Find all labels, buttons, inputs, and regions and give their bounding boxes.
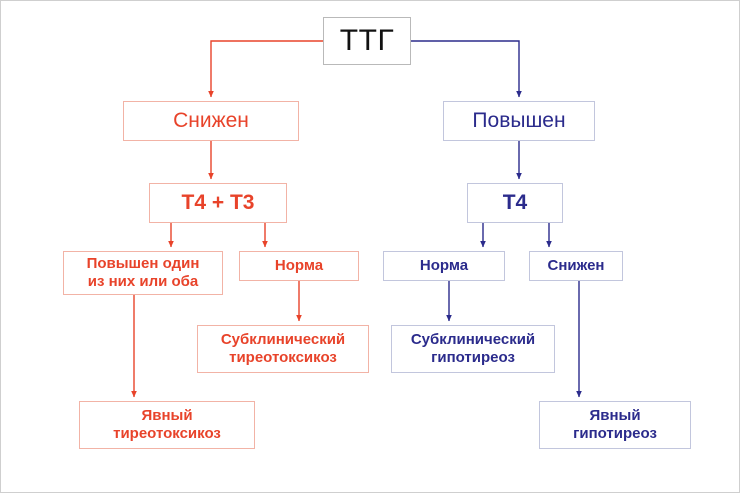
node-snizhen-left: Снижен: [123, 101, 299, 141]
node-povyshen-odin: Повышен один из них или оба: [63, 251, 223, 295]
node-t4: Т4: [467, 183, 563, 223]
flowchart-canvas: ТТГСниженПовышенТ4 + Т3Т4Повышен один из…: [0, 0, 740, 493]
node-ttg: ТТГ: [323, 17, 411, 65]
node-yavnyy-tireotoksikoz: Явный тиреотоксикоз: [79, 401, 255, 449]
connector-ttg-to-snizhen: [211, 41, 323, 97]
node-yavnyy-gipotireoz: Явный гипотиреоз: [539, 401, 691, 449]
node-snizhen-blue: Снижен: [529, 251, 623, 281]
node-subklin-tireotoksikoz: Субклинический тиреотоксикоз: [197, 325, 369, 373]
node-t4-t3: Т4 + Т3: [149, 183, 287, 223]
node-norma-blue: Норма: [383, 251, 505, 281]
connector-ttg-to-povyshen: [411, 41, 519, 97]
node-povyshen-right: Повышен: [443, 101, 595, 141]
node-norma-red: Норма: [239, 251, 359, 281]
node-subklin-gipotireoz: Субклинический гипотиреоз: [391, 325, 555, 373]
